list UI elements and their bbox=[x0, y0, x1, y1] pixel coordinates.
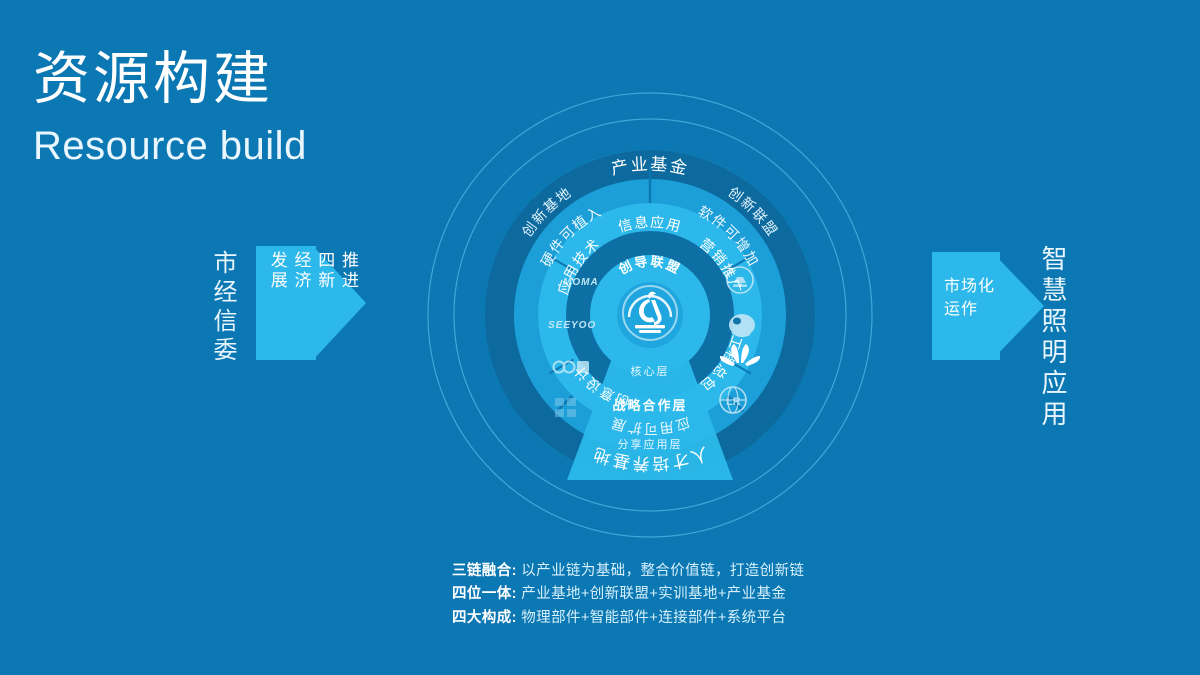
legend-row-key: 四大构成 bbox=[452, 610, 512, 626]
partner-logo-orb-icon bbox=[729, 314, 755, 336]
svg-text:LR: LR bbox=[726, 396, 741, 408]
partner-logo-seeyoo-text: SEEYOO bbox=[548, 320, 596, 331]
arrow-left-col-2: 四新 bbox=[314, 251, 336, 291]
arrow-right-line-1: 市场化 bbox=[944, 275, 1004, 298]
legend-row: 四大构成: 物理部件+智能部件+连接部件+系统平台 bbox=[452, 607, 972, 630]
legend-row-value: 产业基地+创新联盟+实训基地+产业基金 bbox=[521, 586, 786, 602]
legend-row: 三链融合: 以产业链为基础，整合价值链，打造创新链 bbox=[452, 560, 972, 583]
partner-logo-seeyoo: SEEYOO bbox=[548, 320, 596, 331]
legend-row-sep: : bbox=[512, 586, 522, 602]
arrow-left: 推进 四新 经济 发展 bbox=[256, 203, 366, 403]
arrow-left-col-1: 推进 bbox=[337, 251, 359, 291]
legend-row: 四位一体: 产业基地+创新联盟+实训基地+产业基金 bbox=[452, 583, 972, 606]
page-title: 资源构建 Resource build bbox=[33, 48, 307, 170]
arrow-left-col-3: 经济 bbox=[290, 251, 312, 291]
core-label-strategic-layer: 战略合作层 bbox=[612, 398, 687, 413]
arrow-right: 市场化 运作 bbox=[932, 212, 1052, 402]
arrow-left-text: 推进 四新 经济 发展 bbox=[264, 251, 359, 291]
concentric-diagram: MOMA SEEYOO bbox=[415, 80, 885, 550]
arrow-right-line-2: 运作 bbox=[944, 298, 1004, 321]
inner-ring-label-bottom: 分享应用层 bbox=[618, 437, 683, 451]
arrow-right-text: 市场化 运作 bbox=[944, 275, 1004, 321]
legend-row-key: 三链融合 bbox=[452, 563, 512, 579]
legend-row-sep: : bbox=[512, 563, 522, 579]
slide-canvas: 资源构建 Resource build 市经信委 推进 四新 经济 发展 市场化… bbox=[0, 0, 1200, 675]
legend-row-value: 以产业链为基础，整合价值链，打造创新链 bbox=[521, 563, 804, 579]
legend-row-sep: : bbox=[512, 610, 522, 626]
label-right-application: 智慧照明应用 bbox=[1035, 245, 1072, 431]
arrow-left-col-4: 发展 bbox=[266, 251, 288, 291]
legend-row-key: 四位一体 bbox=[452, 586, 512, 602]
core-inner-disc bbox=[617, 282, 683, 348]
legend-block: 三链融合: 以产业链为基础，整合价值链，打造创新链 四位一体: 产业基地+创新联… bbox=[452, 560, 972, 630]
core-label-core-layer: 核心层 bbox=[631, 364, 670, 378]
label-left-authority: 市经信委 bbox=[205, 250, 240, 366]
legend-row-value: 物理部件+智能部件+连接部件+系统平台 bbox=[521, 610, 786, 626]
page-title-cn: 资源构建 bbox=[33, 48, 307, 112]
page-title-en: Resource build bbox=[33, 122, 307, 170]
